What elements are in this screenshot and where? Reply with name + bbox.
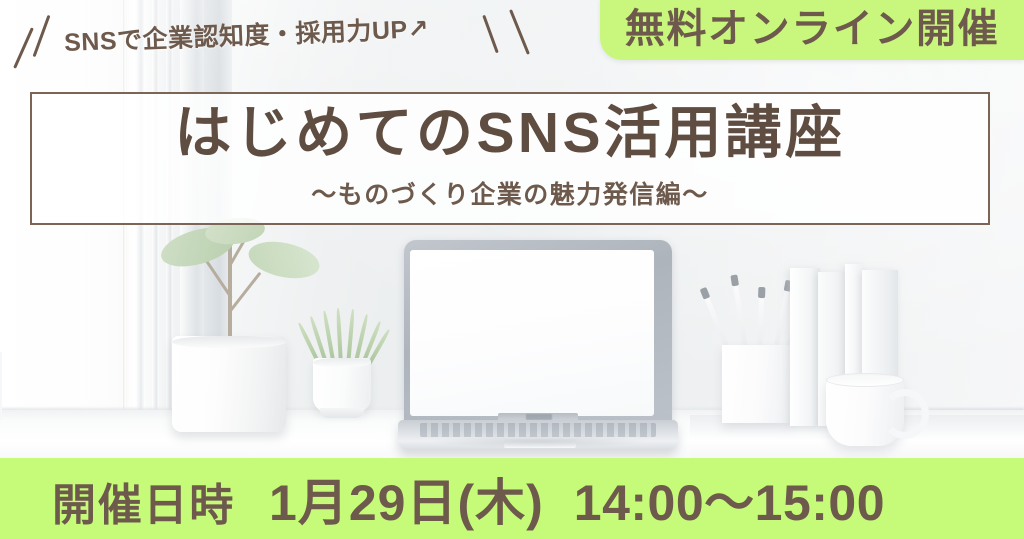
- seminar-title: はじめてのSNS活用講座: [174, 104, 845, 164]
- schedule-label: 開催日時: [52, 469, 235, 533]
- schedule-bar: 開催日時 1月29日(木) 14:00〜15:00: [0, 458, 1024, 539]
- badge-label: 無料オンライン開催: [625, 9, 999, 49]
- schedule-date: 1月29日(木): [269, 463, 544, 535]
- title-frame: はじめてのSNS活用講座 〜ものづくり企業の魅力発信編〜: [30, 92, 990, 225]
- free-online-badge: 無料オンライン開催: [600, 0, 1024, 60]
- seminar-subtitle: 〜ものづくり企業の魅力発信編〜: [311, 175, 709, 211]
- schedule-time: 14:00〜15:00: [574, 463, 885, 535]
- seminar-banner: SNSで企業認知度・採用力UP↗ 無料オンライン開催 はじめてのSNS活用講座 …: [0, 0, 1024, 539]
